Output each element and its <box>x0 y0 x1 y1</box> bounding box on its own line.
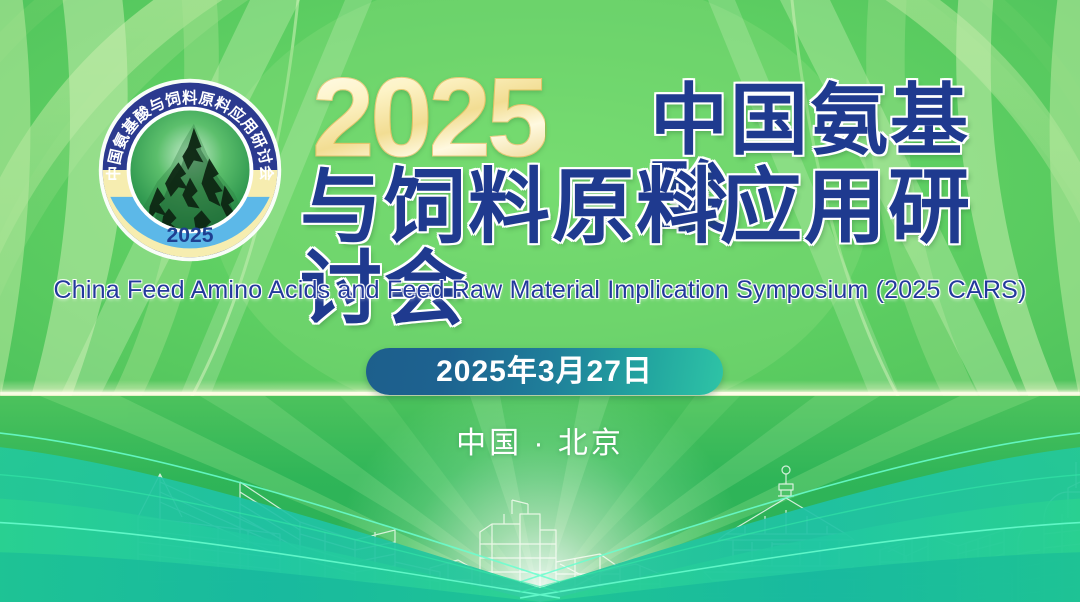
location-label: 中国 · 北京 <box>0 418 1080 462</box>
date-badge: 2025年3月27日 <box>366 348 723 395</box>
conference-banner: 中国氨基酸与饲料原料应用研讨会 2025 2025 中国氨基酸 与饲料原料应用研… <box>0 0 1080 602</box>
title-cn-line-2: 与饲料原料应用研讨会 <box>300 166 1020 330</box>
conference-logo: 中国氨基酸与饲料原料应用研讨会 2025 <box>94 74 286 266</box>
subtitle-english: China Feed Amino Acids and Feed Raw Mate… <box>0 276 1080 305</box>
year-heading: 2025 <box>312 62 545 174</box>
title-group: 2025 中国氨基酸 与饲料原料应用研讨会 <box>300 62 1020 262</box>
logo-year-text: 2025 <box>167 224 214 247</box>
date-badge-label: 2025年3月27日 <box>436 357 653 387</box>
